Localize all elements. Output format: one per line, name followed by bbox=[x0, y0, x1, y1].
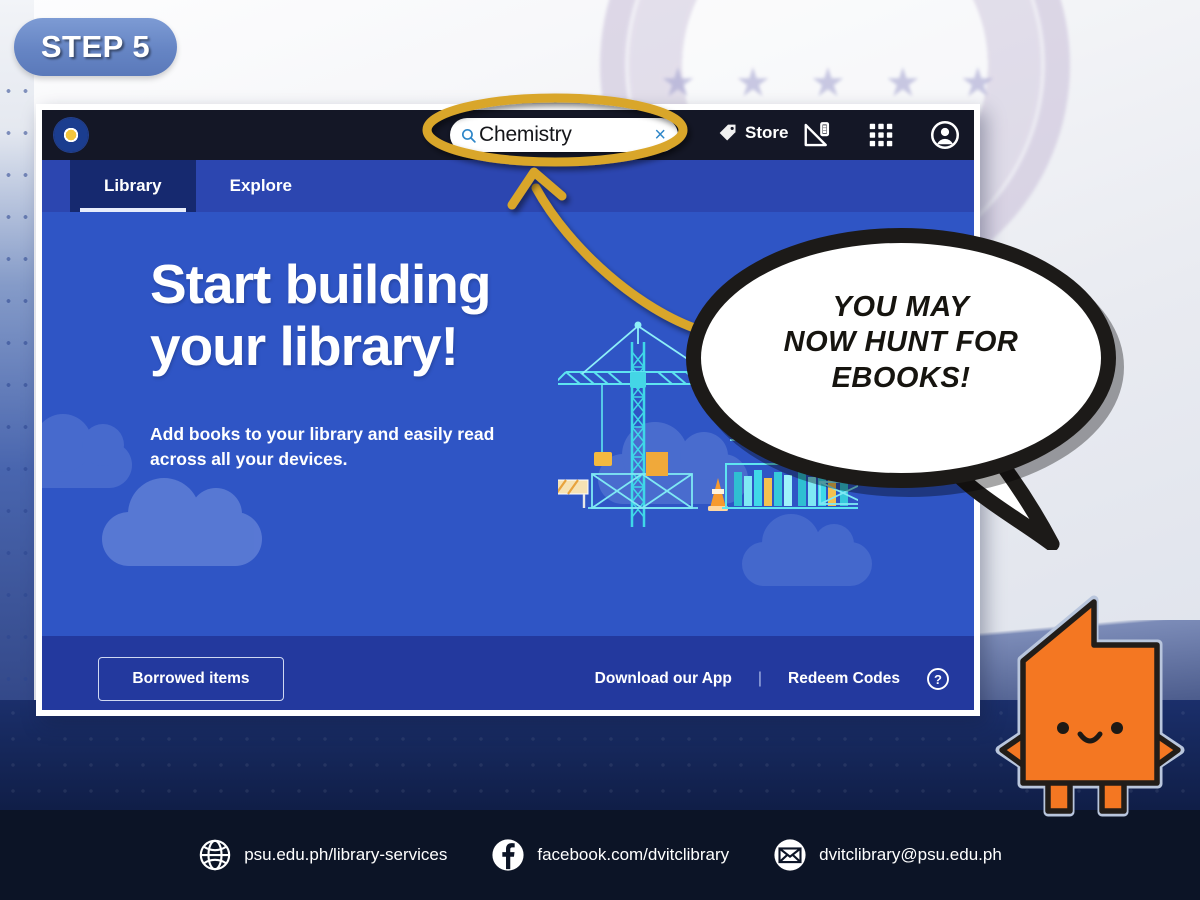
tab-library-label: Library bbox=[104, 176, 162, 196]
mascot-eye-right bbox=[1111, 722, 1123, 734]
store-label: Store bbox=[745, 123, 788, 143]
footer-website[interactable]: psu.edu.ph/library-services bbox=[198, 838, 447, 872]
step-badge-label: STEP 5 bbox=[41, 29, 150, 65]
hero-title-line1: Start building bbox=[150, 254, 620, 316]
store-link[interactable]: Store bbox=[718, 123, 788, 143]
bubble-line-3: EBOOKS! bbox=[686, 361, 1116, 396]
hero-title-line2: your library! bbox=[150, 316, 620, 378]
mascot-eye-left bbox=[1057, 722, 1069, 734]
tab-library[interactable]: Library bbox=[70, 160, 196, 212]
psu-seal-logo[interactable] bbox=[54, 118, 88, 152]
borrowed-items-label: Borrowed items bbox=[132, 670, 249, 688]
seal-stars: ★ ★ ★ ★ ★ bbox=[660, 60, 1010, 106]
footer-website-text: psu.edu.ph/library-services bbox=[244, 845, 447, 865]
cloud-decoration bbox=[102, 512, 262, 566]
topbar-icon-group bbox=[802, 120, 960, 150]
step-badge: STEP 5 bbox=[14, 18, 177, 76]
account-circle-icon[interactable] bbox=[930, 120, 960, 150]
bubble-line-1: YOU MAY bbox=[686, 290, 1116, 325]
price-tag-icon bbox=[718, 123, 738, 143]
search-input[interactable]: Chemistry × bbox=[450, 118, 678, 152]
hero-subtitle-line2: across all your devices. bbox=[150, 447, 550, 472]
email-icon bbox=[773, 838, 807, 872]
bubble-line-2: NOW HUNT FOR bbox=[686, 325, 1116, 360]
tab-explore[interactable]: Explore bbox=[196, 160, 326, 212]
footer-facebook-text: facebook.com/dvitclibrary bbox=[537, 845, 729, 865]
left-dot-pattern bbox=[0, 70, 34, 710]
app-top-bar: Chemistry × Store bbox=[42, 110, 974, 160]
redeem-codes-link[interactable]: Redeem Codes bbox=[788, 670, 900, 688]
link-separator: | bbox=[758, 670, 762, 688]
bottom-bar-links: Download our App | Redeem Codes ? bbox=[595, 667, 950, 691]
borrowed-items-button[interactable]: Borrowed items bbox=[98, 657, 284, 701]
clear-x-icon[interactable]: × bbox=[650, 125, 670, 145]
download-app-link[interactable]: Download our App bbox=[595, 670, 732, 688]
apps-grid-icon[interactable] bbox=[866, 120, 896, 150]
globe-icon bbox=[198, 838, 232, 872]
help-circle-icon[interactable]: ? bbox=[926, 667, 950, 691]
facebook-icon bbox=[491, 838, 525, 872]
books-shelf-icon[interactable] bbox=[802, 120, 832, 150]
footer-contact-bar: psu.edu.ph/library-services facebook.com… bbox=[0, 810, 1200, 900]
app-tab-bar: Library Explore bbox=[42, 160, 974, 212]
footer-email[interactable]: dvitclibrary@psu.edu.ph bbox=[773, 838, 1002, 872]
search-input-value[interactable]: Chemistry bbox=[479, 123, 650, 147]
hero-subtitle: Add books to your library and easily rea… bbox=[150, 422, 550, 472]
cloud-decoration bbox=[42, 442, 132, 488]
hero-subtitle-line1: Add books to your library and easily rea… bbox=[150, 422, 550, 447]
hero-title: Start building your library! bbox=[150, 254, 620, 377]
app-bottom-bar: Borrowed items Download our App | Redeem… bbox=[42, 636, 974, 716]
speech-bubble-text: YOU MAY NOW HUNT FOR EBOOKS! bbox=[686, 290, 1116, 396]
svg-text:?: ? bbox=[934, 672, 942, 687]
speech-bubble: YOU MAY NOW HUNT FOR EBOOKS! bbox=[686, 228, 1116, 528]
orange-square-mascot bbox=[990, 588, 1190, 823]
footer-email-text: dvitclibrary@psu.edu.ph bbox=[819, 845, 1002, 865]
footer-facebook[interactable]: facebook.com/dvitclibrary bbox=[491, 838, 729, 872]
search-icon bbox=[460, 127, 477, 144]
tab-explore-label: Explore bbox=[230, 176, 292, 196]
